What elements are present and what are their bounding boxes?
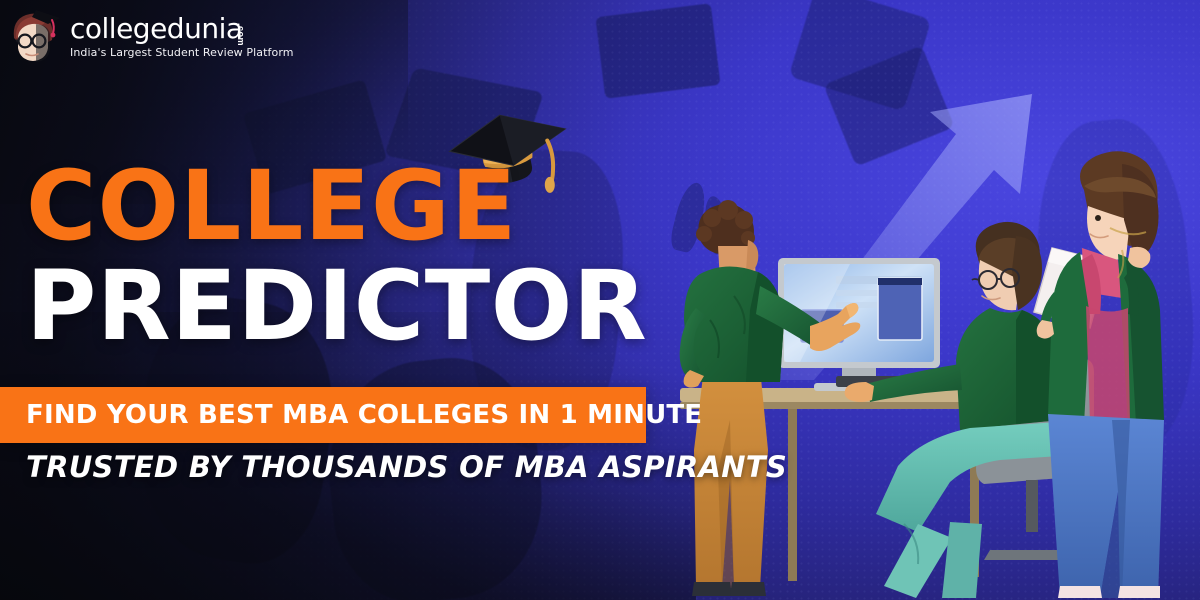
standing-woman-with-clipboard — [1037, 151, 1164, 598]
brand-name: collegedunia — [70, 15, 243, 43]
brand-wordmark: collegedunia .com India's Largest Studen… — [70, 15, 294, 59]
headline-line-1: COLLEGE — [0, 160, 680, 252]
highlight-band-text: FIND YOUR BEST MBA COLLEGES IN 1 MINUTE — [0, 400, 702, 430]
three-students-at-computer-desk-illustration — [660, 120, 1200, 600]
brand-logo[interactable]: collegedunia .com India's Largest Studen… — [8, 8, 294, 66]
highlight-band: FIND YOUR BEST MBA COLLEGES IN 1 MINUTE — [0, 387, 646, 443]
brand-domain-suffix: .com — [236, 23, 246, 46]
brand-tagline: India's Largest Student Review Platform — [70, 46, 294, 59]
student-with-graduation-cap-avatar-icon — [8, 8, 60, 66]
headline-line-2: PREDICTOR — [0, 258, 680, 354]
banner-root: collegedunia .com India's Largest Studen… — [0, 0, 1200, 600]
headline-block: COLLEGE PREDICTOR — [0, 160, 680, 354]
subtitle-text: TRUSTED BY THOUSANDS OF MBA ASPIRANTS — [26, 450, 787, 484]
